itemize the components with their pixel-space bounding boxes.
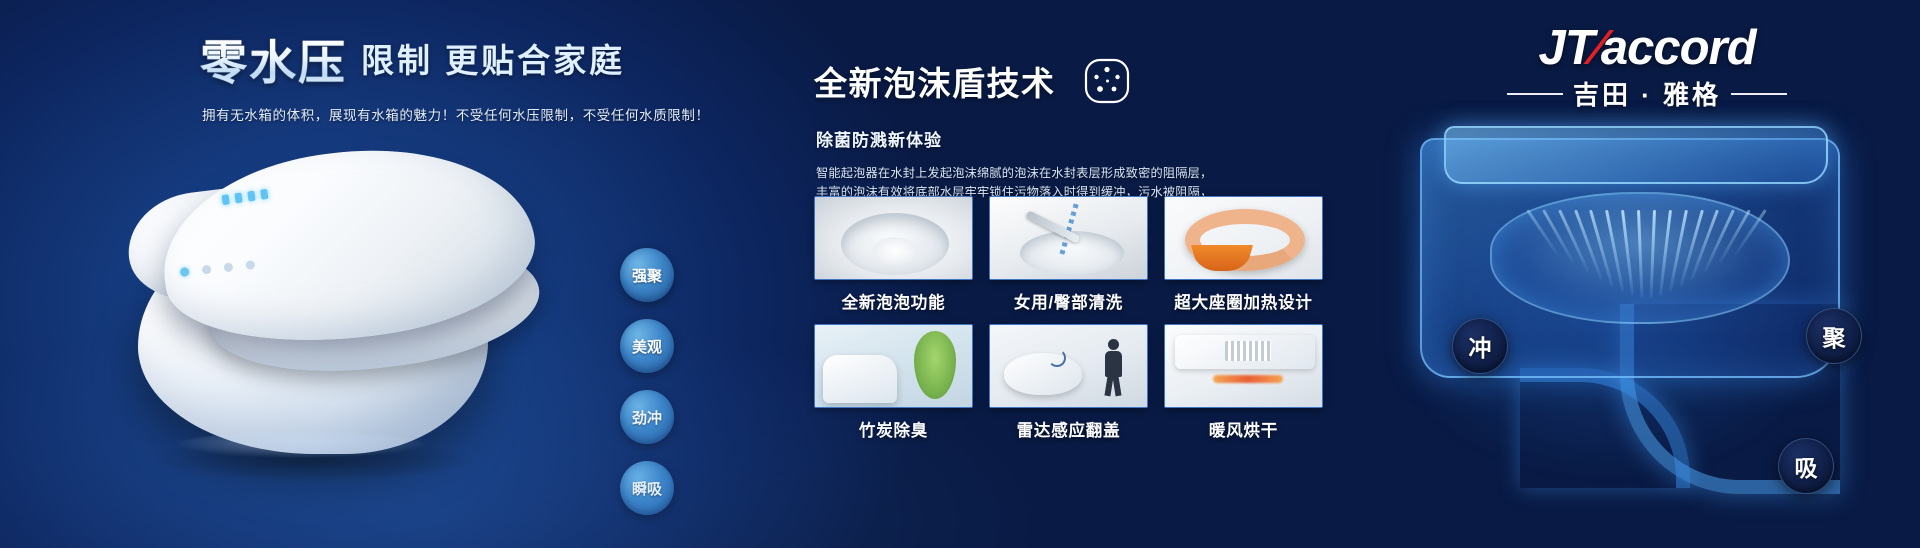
- feature-card-caption-4: 雷达感应翻盖: [989, 417, 1148, 441]
- headline-description: 拥有无水箱的体积，展现有水箱的魅力！不受任何水压限制，不受任何水质限制！: [202, 104, 710, 124]
- brand-logo-cn-row: 吉田 · 雅格: [1492, 75, 1802, 112]
- headline: 零水压 限制 更贴合家庭: [200, 34, 625, 87]
- smart-toilet-product-image: [118, 138, 558, 468]
- toilet-xray-cutaway: 冲 聚 吸: [1370, 118, 1890, 538]
- toilet-base-highlight: [176, 432, 426, 458]
- feature-card-caption-5: 暖风烘干: [1164, 417, 1323, 441]
- feature-card-1[interactable]: 女用/臀部清洗: [989, 196, 1148, 313]
- warm-air-dryer-thumb: [1164, 324, 1323, 408]
- heated-seat-ring-thumb: [1164, 196, 1323, 280]
- xray-badge-chong[interactable]: 冲: [1452, 318, 1508, 374]
- headline-sub: 限制 更贴合家庭: [361, 34, 625, 87]
- feature-card-caption-0: 全新泡泡功能: [814, 289, 973, 313]
- feature-card-3[interactable]: 竹炭除臭: [814, 324, 973, 441]
- middle-panel: 全新泡沫盾技术 除菌防溅新体验 智能起泡器在水封上发起泡沫绵腻的泡沫在水封表层形…: [800, 0, 1340, 548]
- feature-card-caption-2: 超大座圈加热设计: [1164, 289, 1323, 313]
- feature-card-4[interactable]: 雷达感应翻盖: [989, 324, 1148, 441]
- xray-badge-xi[interactable]: 吸: [1778, 438, 1834, 494]
- xray-flush-fins: [1520, 210, 1770, 306]
- radar-auto-lid-thumb: [989, 324, 1148, 408]
- feature-badge-1[interactable]: 美观: [620, 319, 674, 373]
- brand-logo[interactable]: JT⁄accord 吉田 · 雅格: [1492, 24, 1802, 112]
- brand-logo-accord: accord: [1601, 21, 1756, 75]
- feature-badge-3[interactable]: 瞬吸: [620, 461, 674, 515]
- brand-logo-cn: 吉田 · 雅格: [1573, 75, 1721, 112]
- nozzle-wash-thumb: [989, 196, 1148, 280]
- middle-subtitle: 除菌防溅新体验: [816, 126, 1340, 151]
- feature-card-2[interactable]: 超大座圈加热设计: [1164, 196, 1323, 313]
- headline-main: 零水压: [200, 39, 347, 87]
- middle-title-row: 全新泡沫盾技术: [814, 56, 1340, 106]
- right-panel: JT⁄accord 吉田 · 雅格 冲 聚 吸: [1340, 0, 1920, 548]
- feature-card-grid: 全新泡泡功能 女用/臀部清洗 超大座圈加热设计 竹炭除臭 雷达感应翻盖: [814, 196, 1322, 441]
- feature-badge-2[interactable]: 劲冲: [620, 390, 674, 444]
- middle-title: 全新泡沫盾技术: [814, 57, 1056, 105]
- xray-lid: [1444, 126, 1828, 184]
- brand-logo-latin: JT⁄accord: [1492, 24, 1802, 73]
- feature-card-caption-1: 女用/臀部清洗: [989, 289, 1148, 313]
- bubble-shield-icon: [1082, 56, 1132, 106]
- feature-card-caption-3: 竹炭除臭: [814, 417, 973, 441]
- logo-rule-left-icon: [1507, 93, 1563, 95]
- left-panel: 零水压 限制 更贴合家庭 拥有无水箱的体积，展现有水箱的魅力！不受任何水压限制，…: [0, 0, 660, 548]
- feature-badge-0[interactable]: 强聚: [620, 248, 674, 302]
- promo-banner: 零水压 限制 更贴合家庭 拥有无水箱的体积，展现有水箱的魅力！不受任何水压限制，…: [0, 0, 1920, 548]
- logo-rule-right-icon: [1731, 93, 1787, 95]
- brand-logo-slash-icon: ⁄: [1594, 21, 1601, 75]
- brand-logo-jt: JT: [1538, 21, 1593, 75]
- feature-badge-column: 强聚 美观 劲冲 瞬吸: [620, 248, 674, 515]
- bamboo-charcoal-thumb: [814, 324, 973, 408]
- feature-card-5[interactable]: 暖风烘干: [1164, 324, 1323, 441]
- bubble-bowl-thumb: [814, 196, 973, 280]
- xray-badge-ju[interactable]: 聚: [1806, 308, 1862, 364]
- feature-card-0[interactable]: 全新泡泡功能: [814, 196, 973, 313]
